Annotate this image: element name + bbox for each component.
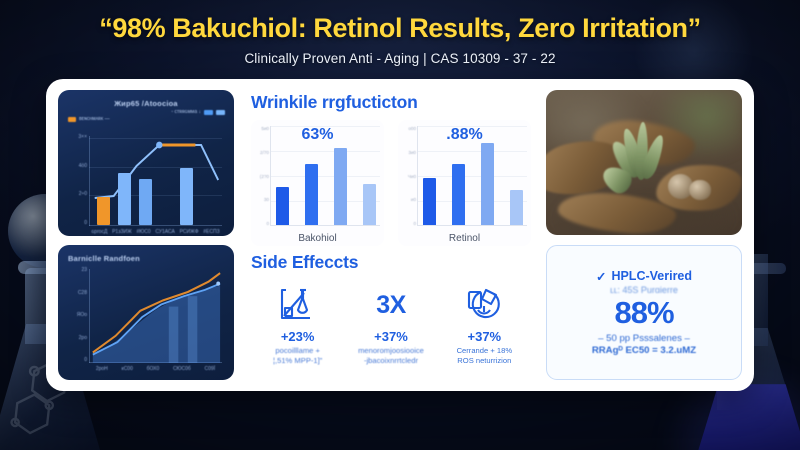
hplc-verified-subheading: ʟʟ: 45S Purɑierre xyxy=(610,285,678,295)
legend-swatch-blue xyxy=(204,110,213,115)
hplc-verified-heading: ✓ HPLC-Verired xyxy=(596,269,692,284)
y-tick: 0 xyxy=(84,357,87,363)
check-icon: ✓ xyxy=(596,269,606,284)
x-tick: СУ1АСА xyxy=(155,229,174,235)
pie-segment-icon xyxy=(438,284,531,326)
y-tick: 30 xyxy=(264,197,269,202)
legend-swatch-light-blue xyxy=(216,110,225,115)
side-effect-3-caption: Cerrande + 18% ROS neturrizion xyxy=(438,346,531,366)
caption-line: menoromjoosiooice xyxy=(344,346,437,356)
x-tick: С09Ї xyxy=(205,366,216,372)
side-effects-row: +23% pocoilllame + ¦,51% MPP-1]” 3X +37%… xyxy=(251,284,531,366)
x-tick: бОХ0 xyxy=(147,366,160,372)
dashboard-bottom-plot: 23 С28 ЯОо 2ро 0 xyxy=(68,267,224,379)
dashboard-bottom-area-chart xyxy=(89,269,222,363)
hplc-verified-label: HPLC-Verired xyxy=(611,269,692,283)
y-tick: и0 xyxy=(411,197,416,202)
dashboard-top-axis-area xyxy=(89,136,222,226)
bar xyxy=(305,164,318,225)
x-tick: 2роН xyxy=(96,366,108,372)
dashboard-bottom-x-axis: 2роН кС00 бОХ0 СЮС0б С09Ї xyxy=(89,366,222,379)
dashboard-legend-left: ʙᴇɴᴄʜᴍᴀʀᴋ — xyxy=(68,116,110,122)
side-effect-item-2: 3X +37% menoromjoosiooice -jbacoixnrrtcl… xyxy=(344,284,437,366)
dashboard-top-panel: Жир65 /Atoocioa ▫ ϲтʀʀɢмма ↓ ʙᴇɴᴄʜᴍᴀʀᴋ —… xyxy=(58,90,234,236)
page-title: “98% Bakuchiol: Retinol Results, Zero Ir… xyxy=(0,13,800,44)
dashboard-legend-right-label: ▫ ϲтʀʀɢмма ↓ xyxy=(171,109,201,115)
y-tick: 2/70 xyxy=(260,150,269,155)
legend-swatch-orange xyxy=(68,117,76,122)
bar xyxy=(118,173,131,225)
three-x-value: 3X xyxy=(376,291,406,320)
y-tick: 2ро xyxy=(79,335,87,341)
flask-chart-icon xyxy=(251,284,344,326)
caption-line: Cerrande + 18% xyxy=(438,346,531,356)
x-tick: СЮС0б xyxy=(173,366,191,372)
side-effect-1-caption: pocoilllame + ¦,51% MPP-1]” xyxy=(251,346,344,366)
side-effect-2-value: +37% xyxy=(344,329,437,344)
bar xyxy=(180,168,193,225)
side-effect-1-value: +23% xyxy=(251,329,344,344)
y-tick: 0 xyxy=(84,220,87,226)
y-tick: (2?0 xyxy=(260,174,269,179)
dashboard-top-title: Жир65 /Atoocioa xyxy=(68,99,224,108)
dashboard-legend-left-label: ʙᴇɴᴄʜᴍᴀʀᴋ — xyxy=(79,116,110,122)
bar xyxy=(481,143,494,225)
y-tick: 3×× xyxy=(78,134,87,140)
bar xyxy=(334,148,347,225)
caption-line: ROS neturrizion xyxy=(438,356,531,366)
hplc-verified-card: ✓ HPLC-Verired ʟʟ: 45S Purɑierre 88% – 5… xyxy=(546,245,742,380)
y-tick: 0 xyxy=(413,221,416,226)
caption-line: ¦,51% MPP-1]” xyxy=(251,356,344,366)
retinol-bar-chart: .88% о00 3и0 Чи0 и0 0 xyxy=(398,120,531,246)
x-tick: #ЮС0 xyxy=(136,229,150,235)
side-effect-item-3: +37% Cerrande + 18% ROS neturrizion xyxy=(438,284,531,366)
side-effects-title: Side Effeccts xyxy=(251,252,531,273)
y-tick: 2÷0 xyxy=(79,191,87,197)
y-tick: 23 xyxy=(81,267,87,273)
bakuchiol-x-label: Bakohiol xyxy=(251,233,384,244)
right-column: ✓ HPLC-Verired ʟʟ: 45S Purɑierre 88% – 5… xyxy=(546,90,742,380)
dashboard-top-bars xyxy=(93,136,218,225)
caption-line: -jbacoixnrrtcledr xyxy=(344,356,437,366)
verified-card-line1: – 50 pp Psssalenes – xyxy=(598,333,690,344)
side-effect-3-value: +37% xyxy=(438,329,531,344)
dashboard-bottom-y-axis: 23 С28 ЯОо 2ро 0 xyxy=(68,267,87,363)
header: “98% Bakuchiol: Retinol Results, Zero Ir… xyxy=(0,0,800,66)
retinol-value-label: .88% xyxy=(398,126,531,144)
dashboard-bottom-panel: Barniclle Randfoen 23 С28 ЯОо 2ро 0 xyxy=(58,245,234,380)
botanical-ingredients-photo xyxy=(546,90,742,235)
page-subtitle: Clinically Proven Anti - Aging | CAS 103… xyxy=(0,51,800,66)
bar xyxy=(139,179,152,225)
x-tick: Р1зЗИЖ xyxy=(112,229,132,235)
retinol-x-label: Retinol xyxy=(398,233,531,244)
dashboard-top-plot: 3×× 4ö0 2÷0 0 xyxy=(68,134,224,236)
caption-line: pocoilllame + xyxy=(251,346,344,356)
verified-card-line2: RRAgᴰ EC50 = 3.2.uMZ xyxy=(592,345,696,356)
y-tick: 3и0 xyxy=(408,150,416,155)
center-column: Wrinkile rrgfucticton 63% 5и0 2/70 (2?0 … xyxy=(245,90,535,380)
wrinkle-section-title: Wrinkile rrgfucticton xyxy=(251,92,531,113)
bar xyxy=(97,197,110,225)
x-tick: РСИЖФ xyxy=(180,229,199,235)
dashboard-legend-right: ▫ ϲтʀʀɢмма ↓ xyxy=(171,109,225,115)
dashboard-bottom-title: Barniclle Randfoen xyxy=(68,254,224,263)
dashboard-column: Жир65 /Atoocioa ▫ ϲтʀʀɢмма ↓ ʙᴇɴᴄʜᴍᴀʀᴋ —… xyxy=(58,90,234,380)
y-tick: ЯОо xyxy=(77,312,87,318)
bakuchiol-bar-chart: 63% 5и0 2/70 (2?0 30 0 xyxy=(251,120,384,246)
x-tick: ɢргосД xyxy=(91,229,107,235)
side-effect-2-caption: menoromjoosiooice -jbacoixnrrtcledr xyxy=(344,346,437,366)
side-effect-item-1: +23% pocoilllame + ¦,51% MPP-1]” xyxy=(251,284,344,366)
purity-value: 88% xyxy=(614,297,673,330)
main-content-card: Жир65 /Atoocioa ▫ ϲтʀʀɢмма ↓ ʙᴇɴᴄʜᴍᴀʀᴋ —… xyxy=(46,79,754,391)
y-tick: Чи0 xyxy=(408,174,416,179)
dashboard-top-x-axis: ɢргосД Р1зЗИЖ #ЮС0 СУ1АСА РСИЖФ #ЕСПЗ xyxy=(89,229,222,236)
y-tick: 4ö0 xyxy=(79,163,87,169)
bar xyxy=(423,178,436,225)
y-tick: 0 xyxy=(266,221,269,226)
bar xyxy=(510,190,523,225)
three-x-label: 3X xyxy=(344,284,437,326)
dashboard-bottom-axis-area xyxy=(89,269,222,363)
dashboard-top-y-axis: 3×× 4ö0 2÷0 0 xyxy=(68,134,87,226)
bar xyxy=(452,164,465,225)
wrinkle-charts-row: 63% 5и0 2/70 (2?0 30 0 xyxy=(251,120,531,246)
y-tick: С28 xyxy=(78,290,87,296)
bar xyxy=(363,184,376,225)
x-tick: #ЕСПЗ xyxy=(203,229,219,235)
bar xyxy=(276,187,289,225)
x-tick: кС00 xyxy=(122,366,133,372)
bakuchiol-value-label: 63% xyxy=(251,126,384,144)
